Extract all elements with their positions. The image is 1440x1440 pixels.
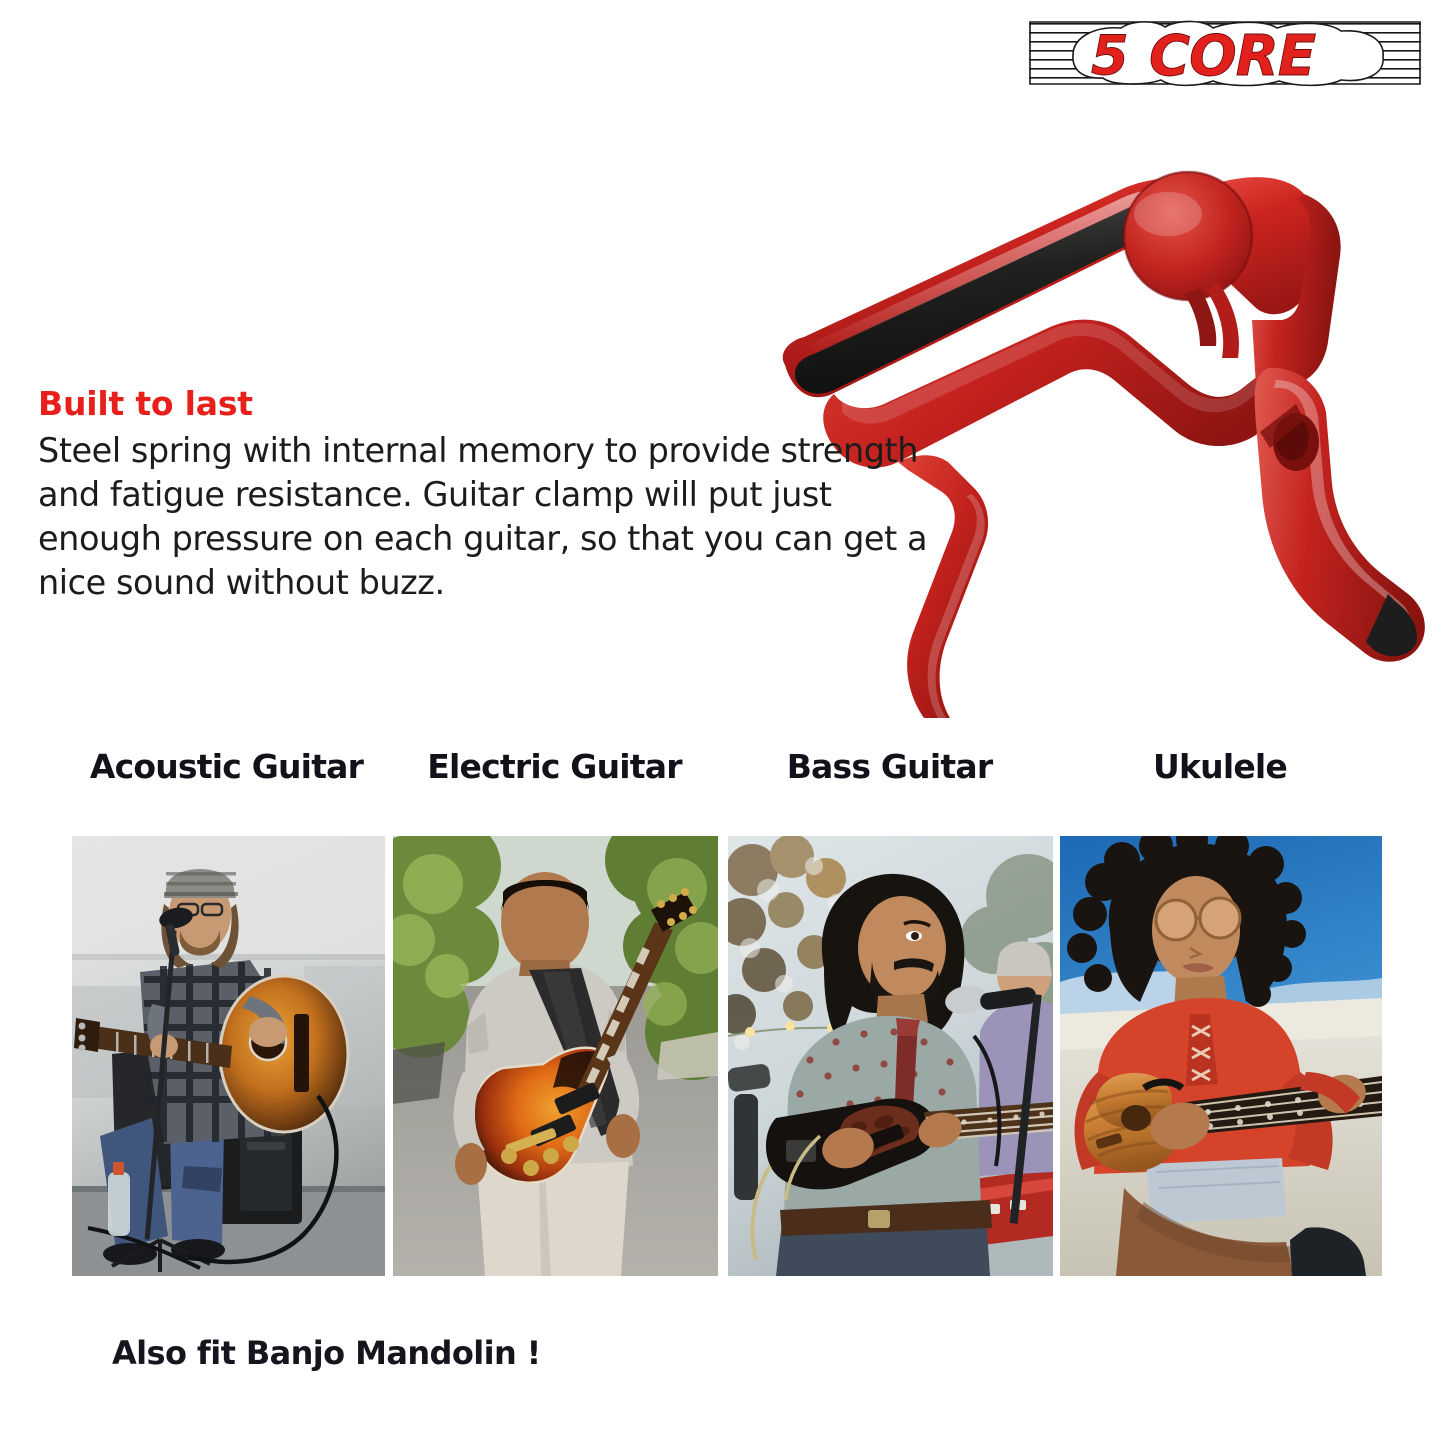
logo-wordmark-core: CORE	[1149, 24, 1316, 87]
category-photo-row	[72, 836, 1382, 1276]
acoustic-guitar-photo	[72, 836, 385, 1276]
category-label-acoustic-guitar: Acoustic Guitar	[70, 744, 383, 790]
feature-heading: Built to last	[38, 384, 953, 424]
category-label-electric-guitar: Electric Guitar	[392, 744, 717, 790]
feature-body-text: Steel spring with internal memory to pro…	[38, 429, 943, 605]
category-label-ukulele: Ukulele	[1059, 744, 1381, 790]
ukulele-photo	[1060, 836, 1382, 1276]
footnote-also-fits: Also fit Banjo Mandolin !	[112, 1331, 541, 1375]
category-label-bass-guitar: Bass Guitar	[727, 744, 1052, 790]
product-infographic-page: 5 CORE	[0, 0, 1440, 1440]
capo-pivot-gloss	[1134, 192, 1202, 236]
brand-logo-5-core: 5 CORE	[1029, 19, 1421, 87]
bass-guitar-photo	[728, 836, 1053, 1276]
category-label-row: Acoustic Guitar Electric Guitar Bass Gui…	[70, 744, 1382, 804]
electric-guitar-photo	[393, 836, 718, 1276]
feature-text-block: Built to last Steel spring with internal…	[38, 384, 953, 605]
logo-numeral-5: 5	[1091, 24, 1129, 87]
